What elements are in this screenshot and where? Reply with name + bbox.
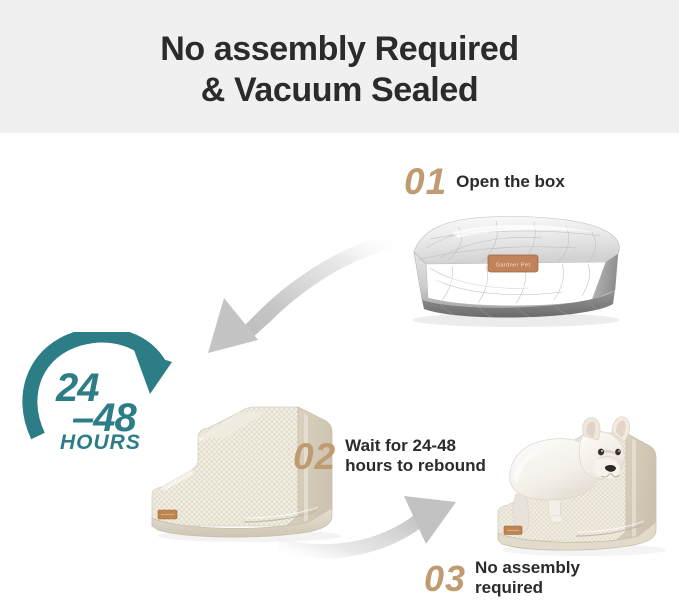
svg-text:Gardner Pet: Gardner Pet xyxy=(496,263,531,269)
step-01-text: Open the box xyxy=(456,172,565,192)
page-title-line-2: & Vacuum Sealed xyxy=(0,70,679,111)
page-title: No assembly Required & Vacuum Sealed xyxy=(0,29,679,111)
step-01-number: 01 xyxy=(404,163,447,200)
step-02-number: 02 xyxy=(293,438,336,475)
stairs-brand-tag xyxy=(158,510,177,519)
infographic-page: No assembly Required & Vacuum Sealed xyxy=(0,0,679,608)
step-03-number: 03 xyxy=(424,560,466,597)
step-02-text: Wait for 24-48 hours to rebound xyxy=(345,436,486,476)
vacuum-sealed-package-illustration: Gardner Pet xyxy=(396,208,634,333)
package-brand-label: Gardner Pet xyxy=(488,255,538,272)
step-03: 03 No assembly required xyxy=(424,558,580,598)
step-01: 01 Open the box xyxy=(404,163,565,200)
pet-stairs-with-dog-illustration xyxy=(492,408,667,563)
page-title-line-1: No assembly Required xyxy=(160,30,519,68)
arrow-box-to-stairs xyxy=(180,228,400,358)
step-03-text: No assembly required xyxy=(475,558,580,598)
step-02: 02 Wait for 24-48 hours to rebound xyxy=(293,436,486,476)
stairs-brand-tag-2 xyxy=(504,526,522,535)
